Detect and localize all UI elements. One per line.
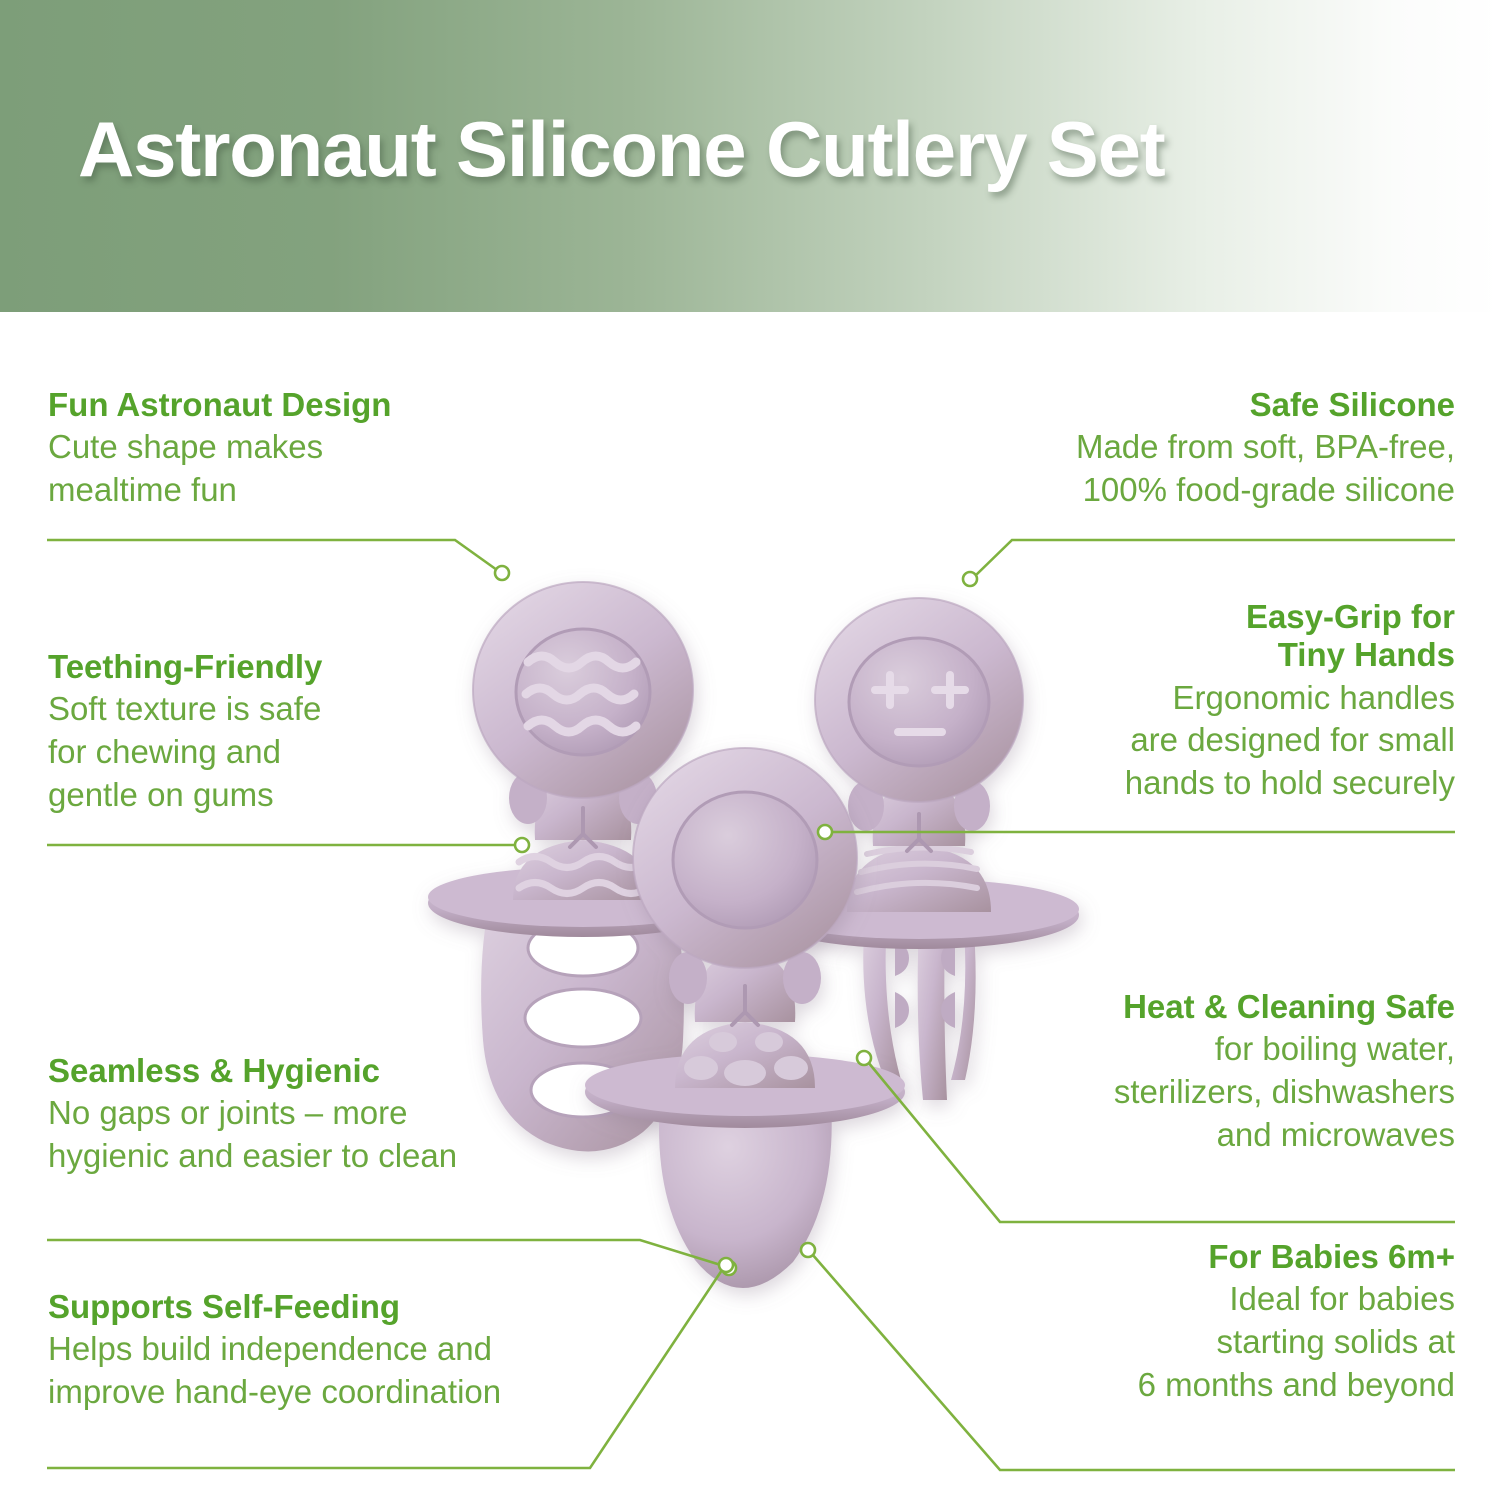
feature-fun-astronaut-design: Fun Astronaut Design Cute shape makes me… bbox=[48, 386, 518, 512]
feature-body: Helps build independence and improve han… bbox=[48, 1328, 648, 1414]
feature-teething-friendly: Teething-Friendly Soft texture is safe f… bbox=[48, 648, 498, 817]
face-plain-visor bbox=[673, 792, 817, 928]
feature-body: for boiling water, sterilizers, dishwash… bbox=[955, 1028, 1455, 1157]
feature-body: Soft texture is safe for chewing and gen… bbox=[48, 688, 498, 817]
feature-body: Ideal for babies starting solids at 6 mo… bbox=[955, 1278, 1455, 1407]
feature-title: Fun Astronaut Design bbox=[48, 386, 518, 424]
feature-title: Easy-Grip for Tiny Hands bbox=[985, 598, 1455, 675]
feature-title: For Babies 6m+ bbox=[955, 1238, 1455, 1276]
feature-easy-grip-tiny-hands: Easy-Grip for Tiny Hands Ergonomic handl… bbox=[985, 598, 1455, 805]
feature-title: Heat & Cleaning Safe bbox=[955, 988, 1455, 1026]
feature-body: Cute shape makes mealtime fun bbox=[48, 426, 518, 512]
feature-title: Seamless & Hygienic bbox=[48, 1052, 568, 1090]
header-banner: Astronaut Silicone Cutlery Set bbox=[0, 0, 1500, 312]
feature-seamless-hygienic: Seamless & Hygienic No gaps or joints – … bbox=[48, 1052, 568, 1178]
feature-title: Safe Silicone bbox=[955, 386, 1455, 424]
feature-supports-self-feeding: Supports Self-Feeding Helps build indepe… bbox=[48, 1288, 648, 1414]
feature-body: Made from soft, BPA-free, 100% food-grad… bbox=[955, 426, 1455, 512]
face-plus-eyes-dash-mouth bbox=[849, 638, 989, 766]
feature-title: Teething-Friendly bbox=[48, 648, 498, 686]
face-wavy-visor bbox=[516, 629, 650, 755]
feature-safe-silicone: Safe Silicone Made from soft, BPA-free, … bbox=[955, 386, 1455, 512]
infographic-page: Astronaut Silicone Cutlery Set bbox=[0, 0, 1500, 1500]
page-title: Astronaut Silicone Cutlery Set bbox=[78, 104, 1165, 195]
feature-body: Ergonomic handles are designed for small… bbox=[985, 677, 1455, 806]
feature-heat-cleaning-safe: Heat & Cleaning Safe for boiling water, … bbox=[955, 988, 1455, 1157]
feature-title: Supports Self-Feeding bbox=[48, 1288, 648, 1326]
feature-body: No gaps or joints – more hygienic and ea… bbox=[48, 1092, 568, 1178]
feature-for-babies-6m: For Babies 6m+ Ideal for babies starting… bbox=[955, 1238, 1455, 1407]
